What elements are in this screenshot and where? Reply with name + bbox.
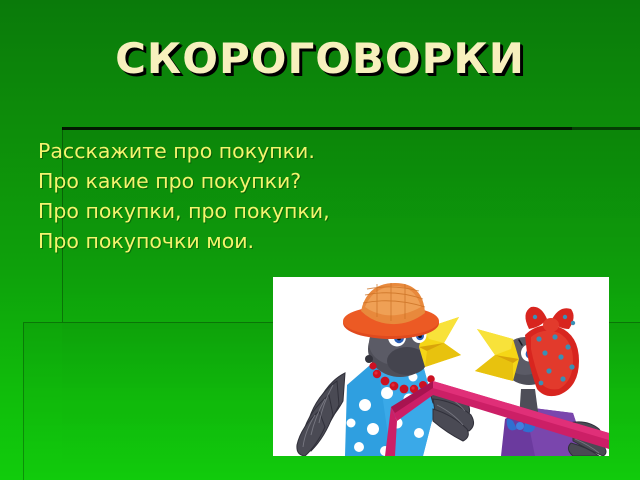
crows-artwork [273, 277, 609, 456]
tongue-twister-text-block: Расскажите про покупки. Про какие про по… [38, 136, 458, 256]
text-line-1: Расскажите про покупки. [38, 136, 458, 166]
presentation-slide: СКОРОГОВОРКИ Расскажите про покупки. Про… [0, 0, 640, 480]
text-line-4: Про покупочки мои. [38, 226, 458, 256]
slide-title: СКОРОГОВОРКИ [0, 34, 640, 83]
text-line-2: Про какие про покупки? [38, 166, 458, 196]
text-line-3: Про покупки, про покупки, [38, 196, 458, 226]
two-crows-illustration [273, 277, 609, 456]
